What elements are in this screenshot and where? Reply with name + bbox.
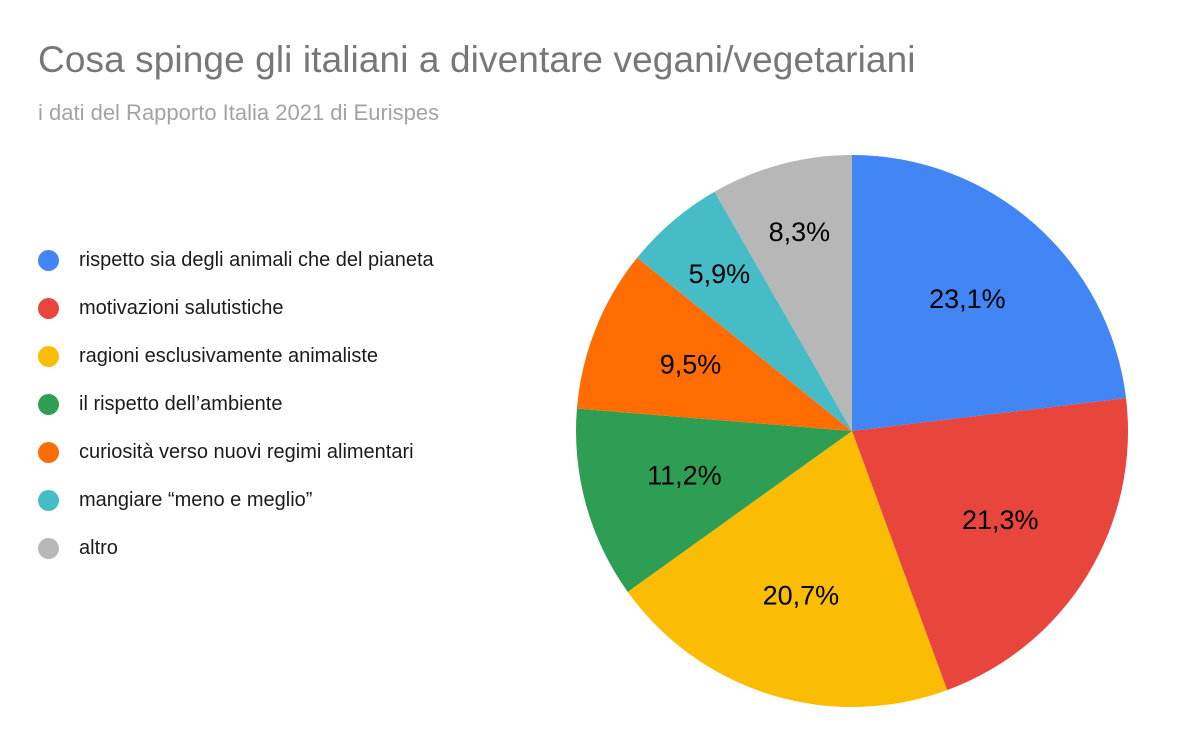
chart-title: Cosa spinge gli italiani a diventare veg… [38,38,916,82]
legend-item-label: rispetto sia degli animali che del piane… [79,248,434,272]
pie-slice-label: 11,2% [647,461,722,491]
legend-swatch-icon [38,394,59,415]
legend-item-label: curiosità verso nuovi regimi alimentari [79,440,414,464]
chart-subtitle: i dati del Rapporto Italia 2021 di Euris… [38,99,439,127]
pie-slice-label: 8,3% [769,217,831,247]
legend-swatch-icon [38,346,59,367]
legend-swatch-icon [38,490,59,511]
legend-swatch-icon [38,298,59,319]
pie-slice-label: 21,3% [962,505,1039,535]
pie-chart-figure: Cosa spinge gli italiani a diventare veg… [0,0,1200,742]
legend-item-label: motivazioni salutistiche [79,296,284,320]
legend-item[interactable]: curiosità verso nuovi regimi alimentari [38,428,558,476]
legend-item[interactable]: mangiare “meno e meglio” [38,476,558,524]
pie-slice-label: 20,7% [763,580,840,610]
pie-svg: 23,1%21,3%20,7%11,2%9,5%5,9%8,3% [576,155,1128,707]
legend-item-label: altro [79,536,118,560]
pie-plot-area: 23,1%21,3%20,7%11,2%9,5%5,9%8,3% [576,155,1128,707]
pie-slice-label: 5,9% [689,259,751,289]
legend-item[interactable]: rispetto sia degli animali che del piane… [38,236,558,284]
legend-item-label: ragioni esclusivamente animaliste [79,344,378,368]
legend-item[interactable]: ragioni esclusivamente animaliste [38,332,558,380]
pie-slice-label: 23,1% [929,284,1006,314]
pie-slice-label: 9,5% [660,350,722,380]
chart-legend: rispetto sia degli animali che del piane… [38,236,558,572]
legend-item[interactable]: motivazioni salutistiche [38,284,558,332]
legend-item[interactable]: altro [38,524,558,572]
legend-swatch-icon [38,538,59,559]
legend-item[interactable]: il rispetto dell’ambiente [38,380,558,428]
legend-swatch-icon [38,250,59,271]
legend-item-label: mangiare “meno e meglio” [79,488,312,512]
legend-swatch-icon [38,442,59,463]
legend-item-label: il rispetto dell’ambiente [79,392,282,416]
